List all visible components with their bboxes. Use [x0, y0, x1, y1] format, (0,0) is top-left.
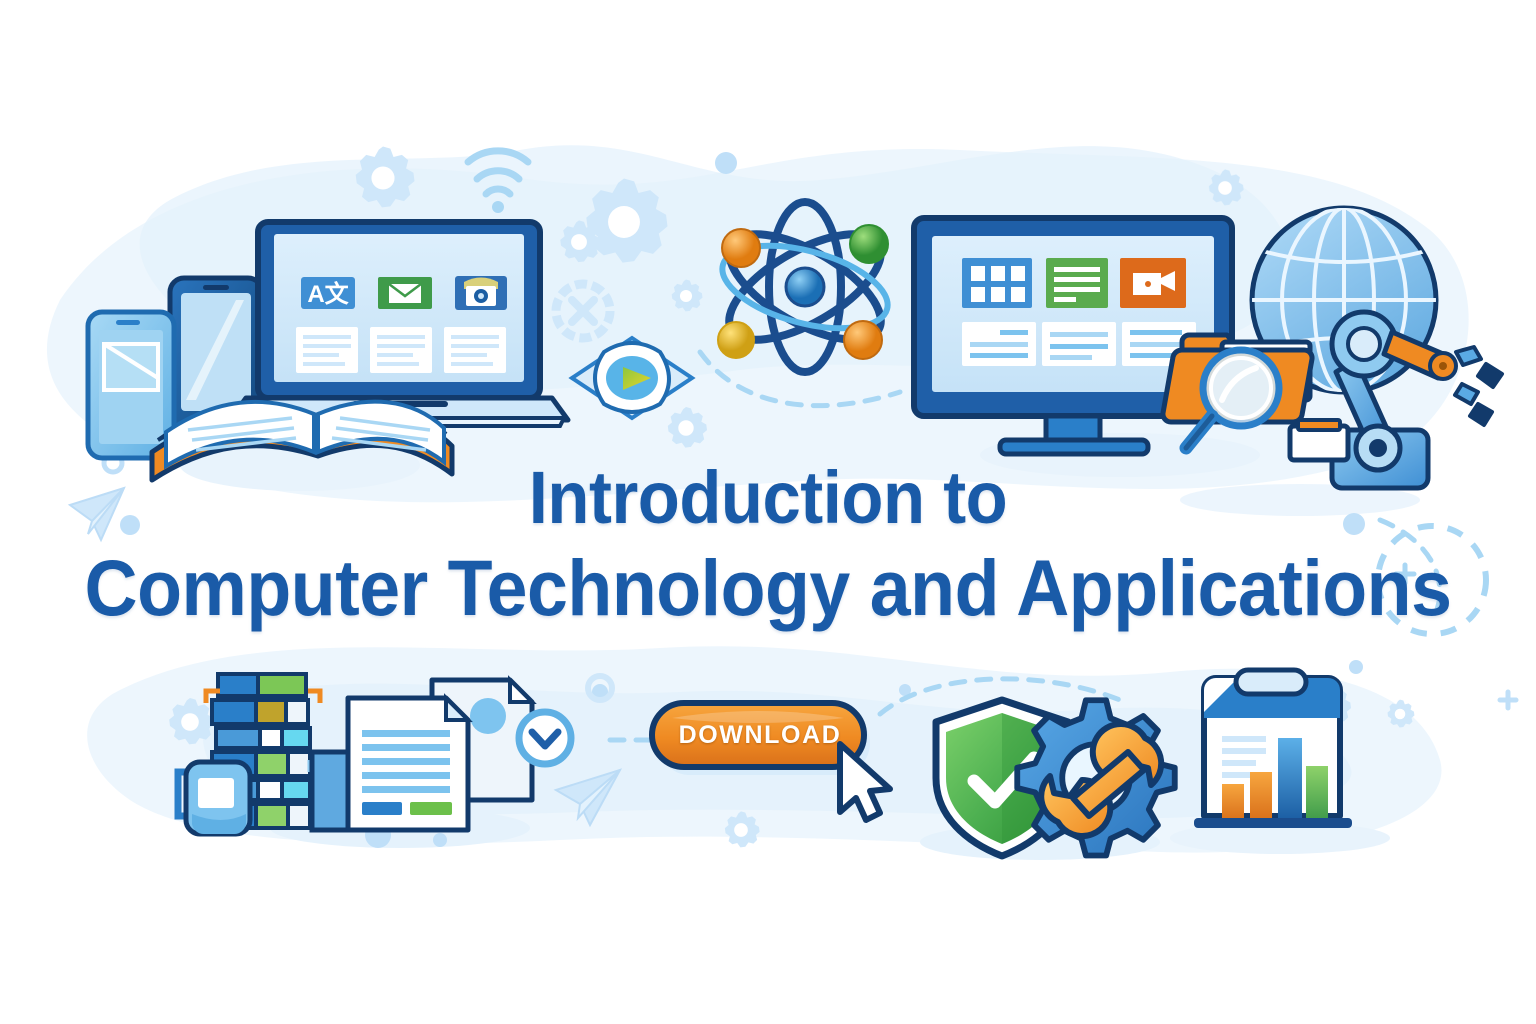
banner-artwork: A文 [0, 0, 1536, 1024]
content-card [962, 322, 1036, 366]
laptop: A文 [230, 222, 568, 426]
content-card [370, 327, 432, 373]
content-card [444, 327, 506, 373]
camera-icon [455, 276, 507, 310]
grid-icon [962, 258, 1032, 308]
video-camera-icon [1120, 258, 1186, 308]
atom-electron [844, 321, 882, 359]
atom-electron [722, 229, 760, 267]
content-card [1042, 322, 1116, 366]
clipboard-chart-icon [1194, 670, 1352, 828]
mail-icon [378, 277, 432, 309]
chevron-down-circle-icon[interactable] [519, 712, 571, 764]
translate-icon: A文 [301, 277, 355, 309]
atom-electron [850, 225, 888, 263]
mug-icon [178, 762, 250, 834]
content-card [296, 327, 358, 373]
illustration-banner: A文 [0, 0, 1536, 1024]
document-lines-icon [1046, 258, 1108, 308]
svg-text:A文: A文 [307, 280, 349, 308]
atom-electron [718, 322, 754, 358]
gear-wrench-icon [1017, 700, 1175, 855]
